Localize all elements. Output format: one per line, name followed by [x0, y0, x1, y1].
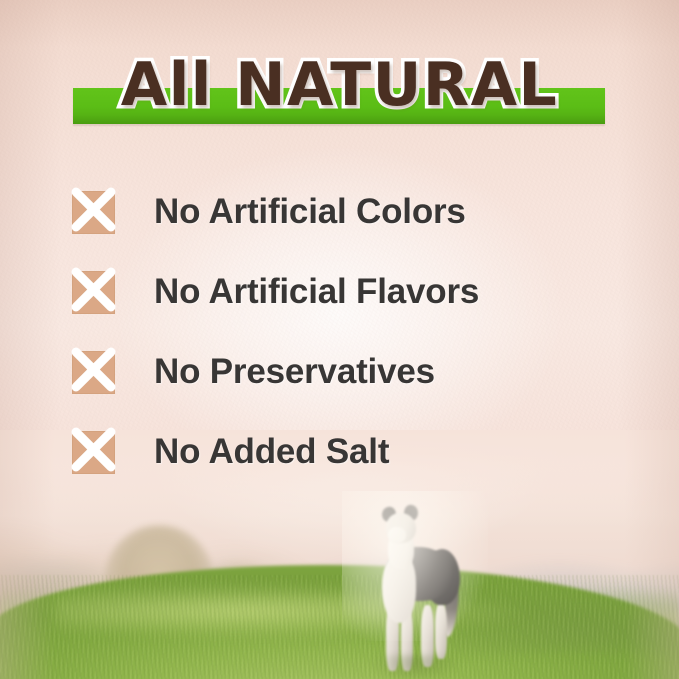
photo-grass-texture	[0, 575, 679, 679]
list-item: No Artificial Flavors	[72, 252, 632, 332]
dog-muzzle	[388, 527, 406, 543]
claims-list: No Artificial Colors No Artificial Flavo…	[72, 172, 632, 492]
list-item: No Artificial Colors	[72, 172, 632, 252]
page-title: All NATURAL	[0, 48, 679, 122]
claim-label: No Artificial Colors	[154, 192, 466, 232]
x-mark-icon	[72, 351, 115, 394]
x-mark-icon	[72, 271, 115, 314]
claim-label: No Preservatives	[154, 352, 435, 392]
x-mark-icon	[72, 431, 115, 474]
list-item: No Added Salt	[72, 412, 632, 492]
x-mark-icon	[72, 191, 115, 234]
claim-label: No Artificial Flavors	[154, 272, 479, 312]
claim-label: No Added Salt	[154, 432, 389, 472]
all-natural-product-poster: All NATURAL No Artificial Colors No Arti…	[0, 0, 679, 679]
list-item: No Preservatives	[72, 332, 632, 412]
dog-back-leg-right	[435, 603, 447, 659]
headline-block: All NATURAL	[0, 48, 679, 132]
dog-illustration	[364, 505, 464, 679]
dog-ground-shadow	[372, 655, 458, 679]
